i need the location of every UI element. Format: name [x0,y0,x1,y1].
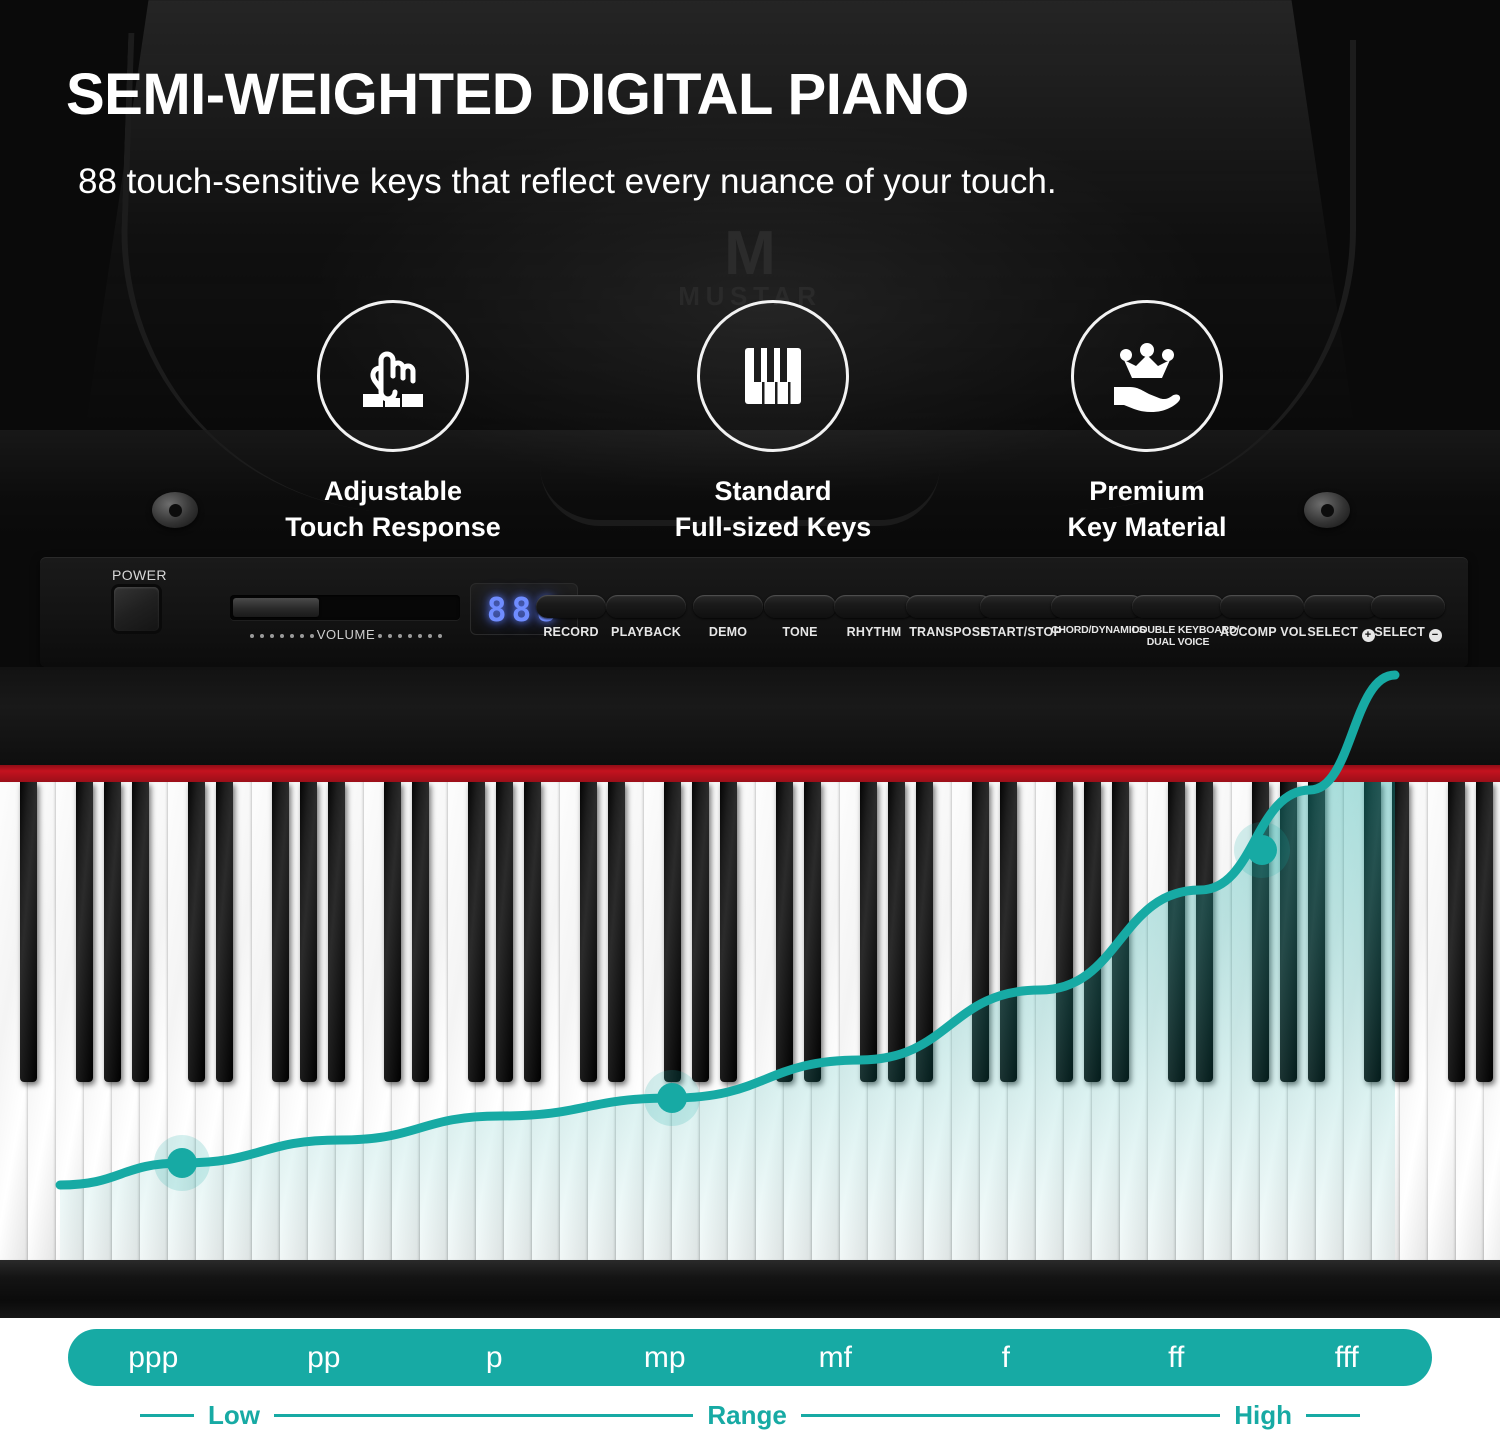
feature-adjustable-touch-response: Adjustable Touch Response [233,300,553,545]
black-key[interactable] [1056,782,1073,1082]
panel-button-playback[interactable]: PLAYBACK [606,595,686,639]
page-subtitle: 88 touch-sensitive keys that reflect eve… [78,162,1458,202]
finger-press-keys-icon [351,334,435,418]
button-label: RECORD [536,625,606,639]
red-felt-strip [0,765,1500,782]
black-key[interactable] [972,782,989,1082]
button-cap[interactable] [834,595,914,618]
black-key[interactable] [272,782,289,1082]
black-key[interactable] [916,782,933,1082]
black-key[interactable] [1448,782,1465,1082]
product-infographic: M MUSTAR SEMI-WEIGHTED DIGITAL PIANO 88 … [0,0,1500,1439]
button-cap[interactable] [1132,595,1224,618]
button-label: DOUBLE KEYBOARD/DUAL VOICE [1132,625,1224,649]
dynamics-scale-bar: ppppppmpmfffffff [68,1329,1432,1386]
crown-on-hand-icon [1104,333,1190,419]
keyboard-front-rail [0,1260,1500,1318]
range-label-low: Low [194,1400,274,1431]
feature-list: Adjustable Touch Response [0,300,1500,550]
black-key[interactable] [496,782,513,1082]
black-key[interactable] [692,782,709,1082]
page-title: SEMI-WEIGHTED DIGITAL PIANO [66,66,1446,124]
panel-button-accomp-vol[interactable]: ACCOMP VOL [1220,595,1304,639]
button-label: DEMO [693,625,763,639]
black-key[interactable] [580,782,597,1082]
black-key[interactable] [300,782,317,1082]
minus-circle-icon: − [1429,629,1442,642]
piano-keyboard[interactable] [0,782,1500,1260]
button-label: SELECT + [1304,625,1378,642]
feature-icon-circle [1071,300,1223,452]
button-label: TONE [764,625,836,639]
button-cap[interactable] [693,595,763,618]
range-line-left-cap [140,1414,194,1417]
range-label-high: High [1220,1400,1306,1431]
black-key[interactable] [776,782,793,1082]
dynamics-level-p: p [409,1343,580,1373]
panel-button-tone[interactable]: TONE [764,595,836,639]
black-key[interactable] [20,782,37,1082]
dynamics-level-ff: ff [1091,1343,1262,1373]
button-cap[interactable] [536,595,606,618]
dynamics-level-ppp: ppp [68,1343,239,1373]
feature-icon-circle [697,300,849,452]
black-key[interactable] [804,782,821,1082]
feature-icon-circle [317,300,469,452]
dynamics-level-fff: fff [1262,1343,1433,1373]
black-key[interactable] [524,782,541,1082]
dynamics-level-pp: pp [239,1343,410,1373]
black-key[interactable] [608,782,625,1082]
button-cap[interactable] [764,595,836,618]
button-label: SELECT − [1371,625,1445,642]
black-key[interactable] [860,782,877,1082]
feature-label: Standard Full-sized Keys [613,474,933,545]
black-key[interactable] [76,782,93,1082]
black-key[interactable] [132,782,149,1082]
black-key[interactable] [1196,782,1213,1082]
panel-button-rhythm[interactable]: RHYTHM [834,595,914,639]
feature-label: Premium Key Material [987,474,1307,545]
panel-button-select[interactable]: SELECT + [1304,595,1378,642]
button-cap[interactable] [606,595,686,618]
black-key[interactable] [468,782,485,1082]
feature-standard-full-sized-keys: Standard Full-sized Keys [613,300,933,545]
black-key[interactable] [1392,782,1409,1082]
range-axis: Low Range High [140,1398,1360,1432]
black-key[interactable] [1476,782,1493,1082]
button-cap[interactable] [1304,595,1378,618]
feature-label: Adjustable Touch Response [233,474,553,545]
button-cap[interactable] [1051,595,1143,618]
black-key[interactable] [1168,782,1185,1082]
black-key[interactable] [328,782,345,1082]
keyboard-shelf [0,667,1500,767]
button-label: PLAYBACK [606,625,686,639]
button-label: ACCOMP VOL [1220,625,1304,639]
dynamics-level-f: f [921,1343,1092,1373]
dynamics-level-mp: mp [580,1343,751,1373]
panel-button-record[interactable]: RECORD [536,595,606,639]
black-key[interactable] [384,782,401,1082]
black-key[interactable] [1252,782,1269,1082]
black-key[interactable] [1364,782,1381,1082]
panel-button-double-keyboard-dual-voice[interactable]: DOUBLE KEYBOARD/DUAL VOICE [1132,595,1224,649]
panel-button-row: RECORDPLAYBACKDEMOTONERHYTHMTRANSPOSESTA… [40,557,1468,667]
button-label: CHORD/DYNAMICS [1051,625,1143,637]
range-line-right [801,1414,1220,1417]
panel-button-demo[interactable]: DEMO [693,595,763,639]
dynamics-level-mf: mf [750,1343,921,1373]
black-key[interactable] [664,782,681,1082]
black-key[interactable] [888,782,905,1082]
button-cap[interactable] [1220,595,1304,618]
black-key[interactable] [1084,782,1101,1082]
button-cap[interactable] [1371,595,1445,618]
black-key[interactable] [1308,782,1325,1082]
range-label-center: Range [693,1400,800,1431]
panel-button-select[interactable]: SELECT − [1371,595,1445,642]
control-panel: POWER VOLUME 888 RECORDPLAYBACKDEMOTONER… [40,557,1468,667]
button-label: RHYTHM [834,625,914,639]
piano-keys-icon [735,338,811,414]
black-key[interactable] [216,782,233,1082]
range-line-left [274,1414,693,1417]
black-key[interactable] [412,782,429,1082]
black-key[interactable] [188,782,205,1082]
black-key[interactable] [1280,782,1297,1082]
feature-premium-key-material: Premium Key Material [987,300,1307,545]
black-key[interactable] [1000,782,1017,1082]
black-key[interactable] [104,782,121,1082]
range-line-right-cap [1306,1414,1360,1417]
black-key[interactable] [720,782,737,1082]
black-key[interactable] [1112,782,1129,1082]
panel-button-chord-dynamics[interactable]: CHORD/DYNAMICS [1051,595,1143,637]
